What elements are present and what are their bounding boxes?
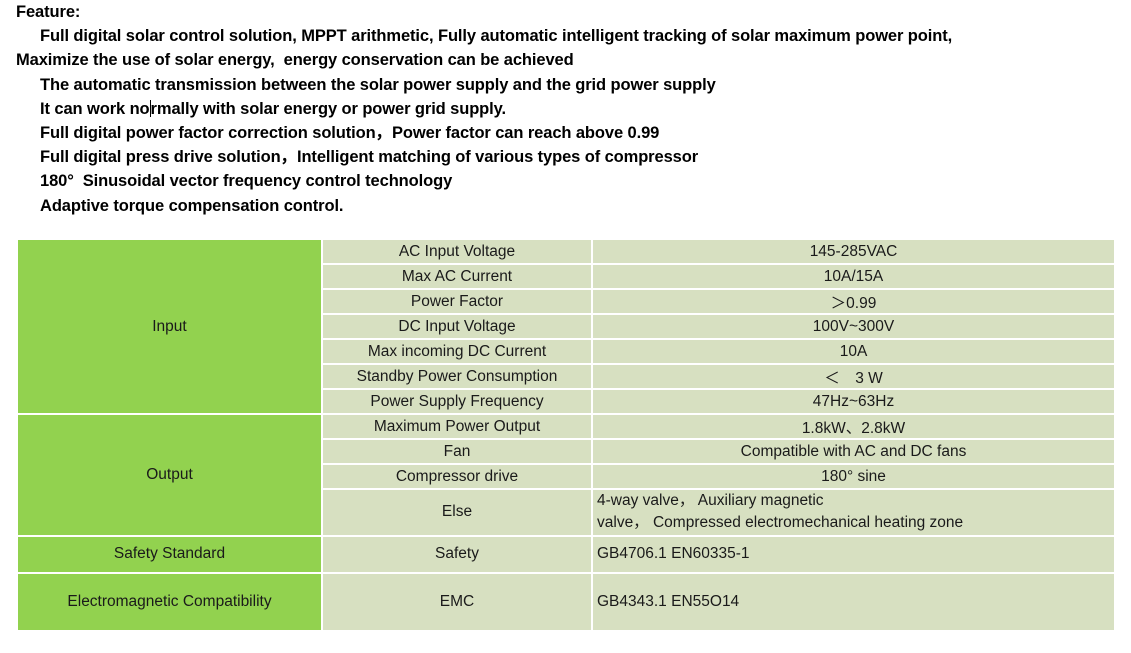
spec-value-cell: 4-way valve， Auxiliary magneticvalve， Co… <box>592 489 1115 536</box>
table-row: Safety StandardSafetyGB4706.1 EN60335-1 <box>17 536 1115 573</box>
spec-value-cell: Compatible with AC and DC fans <box>592 439 1115 464</box>
table-row: Electromagnetic CompatibilityEMCGB4343.1… <box>17 573 1115 631</box>
spec-parameter-cell: AC Input Voltage <box>322 239 592 264</box>
spec-parameter-cell: Max incoming DC Current <box>322 339 592 364</box>
spec-parameter-cell: DC Input Voltage <box>322 314 592 339</box>
spec-category-cell: Electromagnetic Compatibility <box>17 573 322 631</box>
spec-value-cell: 180° sine <box>592 464 1115 489</box>
spec-value-cell: ＞0.99 <box>592 289 1115 314</box>
feature-line: Adaptive torque compensation control. <box>0 194 1131 218</box>
spec-parameter-cell: EMC <box>322 573 592 631</box>
feature-line: The automatic transmission between the s… <box>0 73 1131 97</box>
spec-parameter-cell: Else <box>322 489 592 536</box>
spec-parameter-cell: Maximum Power Output <box>322 414 592 439</box>
feature-line: It can work normally with solar energy o… <box>0 97 1131 121</box>
spec-value-cell: GB4706.1 EN60335-1 <box>592 536 1115 573</box>
spec-category-cell: Output <box>17 414 322 536</box>
spec-parameter-cell: Safety <box>322 536 592 573</box>
spec-value-cell: 145-285VAC <box>592 239 1115 264</box>
feature-line-list: Full digital solar control solution, MPP… <box>0 24 1131 218</box>
feature-section: Feature: Full digital solar control solu… <box>0 0 1131 218</box>
spec-parameter-cell: Compressor drive <box>322 464 592 489</box>
spec-value-cell: 10A/15A <box>592 264 1115 289</box>
spec-value-cell: 10A <box>592 339 1115 364</box>
feature-line: Full digital solar control solution, MPP… <box>0 24 1131 48</box>
spec-parameter-cell: Fan <box>322 439 592 464</box>
spec-parameter-cell: Power Supply Frequency <box>322 389 592 414</box>
table-row: OutputMaximum Power Output1.8kW、2.8kW <box>17 414 1115 439</box>
spec-parameter-cell: Max AC Current <box>322 264 592 289</box>
spec-value-cell: 47Hz~63Hz <box>592 389 1115 414</box>
spec-value-cell: GB4343.1 EN55O14 <box>592 573 1115 631</box>
feature-line: Maximize the use of solar energy, energy… <box>0 48 1131 72</box>
spec-parameter-cell: Standby Power Consumption <box>322 364 592 389</box>
specification-table: InputAC Input Voltage145-285VACMax AC Cu… <box>17 239 1115 631</box>
spec-category-cell: Safety Standard <box>17 536 322 573</box>
text-cursor-caret <box>150 100 151 117</box>
feature-line: 180° Sinusoidal vector frequency control… <box>0 169 1131 193</box>
feature-line: Full digital press drive solution，Intell… <box>0 145 1131 169</box>
specification-table-body: InputAC Input Voltage145-285VACMax AC Cu… <box>17 239 1115 631</box>
spec-value-cell: 1.8kW、2.8kW <box>592 414 1115 439</box>
feature-heading: Feature: <box>0 0 1131 24</box>
spec-category-cell: Input <box>17 239 322 414</box>
spec-value-cell: ＜ 3 W <box>592 364 1115 389</box>
table-row: InputAC Input Voltage145-285VAC <box>17 239 1115 264</box>
spec-value-cell: 100V~300V <box>592 314 1115 339</box>
feature-line: Full digital power factor correction sol… <box>0 121 1131 145</box>
spec-parameter-cell: Power Factor <box>322 289 592 314</box>
